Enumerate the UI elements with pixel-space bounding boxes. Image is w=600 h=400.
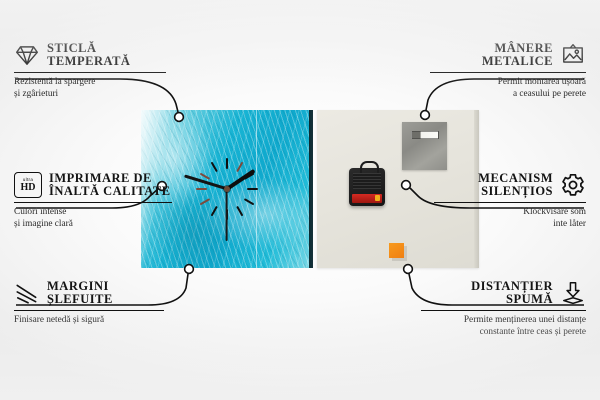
feature-spacer-title-2: SPUMĂ [471, 293, 553, 306]
feature-glass-subtitle: Rezistentă la spargere și zgârieturi [14, 76, 166, 100]
polished-edges-icon [14, 280, 40, 306]
feature-mechanism-subtitle: Klockvisare som inte låter [434, 206, 586, 230]
foam-spacer-arrow-icon [560, 280, 586, 306]
feature-handles-rule [430, 72, 586, 74]
feature-glass: STICLĂ TEMPERATĂ Rezistentă la spargere … [14, 42, 166, 100]
feature-mechanism-rule [434, 202, 586, 204]
feature-mechanism-title-2: SILENȚIOS [478, 185, 553, 198]
feature-spacer: DISTANȚIER SPUMĂ Permite menținerea unei… [421, 280, 586, 338]
feature-spacer-rule [421, 310, 586, 312]
feature-print: ultra HD IMPRIMARE DE ÎNALTĂ CALITATE Cu… [14, 172, 172, 230]
feature-handles: MÂNERE METALICE Permit montarea ușoară a… [430, 42, 586, 100]
feature-print-title-1: IMPRIMARE DE [49, 172, 171, 185]
ultra-hd-badge-icon: ultra HD [14, 172, 42, 198]
feature-glass-title-1: STICLĂ [47, 42, 130, 55]
feature-edges: MARGINI ȘLEFUITE Finisare netedă și sigu… [14, 280, 164, 326]
feature-edges-title-1: MARGINI [47, 280, 113, 293]
gear-icon [560, 172, 586, 198]
picture-hanger-icon [560, 42, 586, 68]
feature-print-subtitle: Culori intense și imagine clară [14, 206, 172, 230]
feature-handles-title-1: MÂNERE [482, 42, 553, 55]
feature-handles-title-2: METALICE [482, 55, 553, 68]
feature-mechanism: MECANISM SILENȚIOS Klockvisare som inte … [434, 172, 586, 230]
feature-spacer-subtitle: Permite menținerea unei distanțe constan… [421, 314, 586, 338]
feature-edges-title-2: ȘLEFUITE [47, 293, 113, 306]
infographic-canvas: STICLĂ TEMPERATĂ Rezistentă la spargere … [0, 0, 600, 400]
feature-edges-rule [14, 310, 164, 312]
feature-handles-subtitle: Permit montarea ușoară a ceasului pe per… [430, 76, 586, 100]
feature-spacer-title-1: DISTANȚIER [471, 280, 553, 293]
feature-mechanism-title-1: MECANISM [478, 172, 553, 185]
feature-glass-title-2: TEMPERATĂ [47, 55, 130, 68]
feature-glass-rule [14, 72, 166, 74]
feature-print-title-2: ÎNALTĂ CALITATE [49, 185, 171, 198]
feature-edges-subtitle: Finisare netedă și sigură [14, 314, 164, 326]
feature-print-rule [14, 202, 172, 204]
diamond-icon [14, 42, 40, 68]
ultra-hd-main-text: HD [21, 183, 36, 193]
